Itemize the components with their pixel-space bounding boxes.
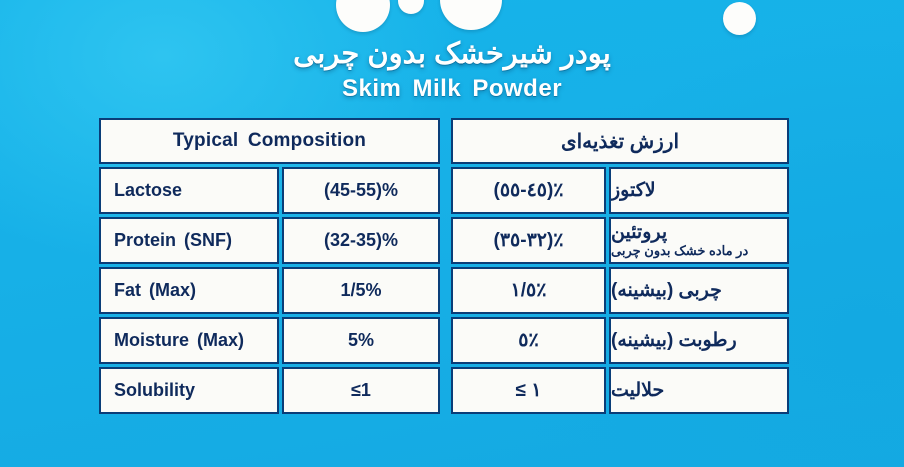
row-value-moisture-en: 5%: [282, 317, 440, 364]
row-label-lactose-en: Lactose: [99, 167, 279, 214]
table-row: Protein (SNF) (32-35)% ٪(٣٢-٣٥) پروتئین …: [99, 217, 789, 264]
row-label-protein-fa-main: پروتئین: [611, 223, 667, 243]
table-section-divider: [443, 367, 448, 414]
table-section-divider: [443, 267, 448, 314]
column-header-typical-composition: Typical Composition: [99, 118, 440, 164]
row-value-solubility-fa: ١ ≥: [451, 367, 606, 414]
milk-bubble-icon: [336, 0, 390, 32]
row-value-fat-en: 1/5%: [282, 267, 440, 314]
row-label-solubility-en: Solubility: [99, 367, 279, 414]
row-label-moisture-fa: رطوبت (بیشینه): [609, 317, 789, 364]
column-header-nutritional-value: ارزش تغذیه‌ای: [451, 118, 789, 164]
title-block: پودر شیرخشک بدون چربی Skim Milk Powder: [0, 34, 904, 104]
table-row: Solubility ≤1 ١ ≥ حلالیت: [99, 367, 789, 414]
nutrition-spec-table: Typical Composition ارزش تغذیه‌ای Lactos…: [99, 118, 789, 414]
milk-bubble-icon: [723, 2, 756, 35]
table-section-divider: [443, 167, 448, 214]
row-label-protein-en: Protein (SNF): [99, 217, 279, 264]
row-value-protein-en: (32-35)%: [282, 217, 440, 264]
milk-bubble-icon: [440, 0, 502, 30]
table-row: Lactose (45-55)% ٪(٤٥-٥٥) لاکتوز: [99, 167, 789, 214]
row-label-moisture-en: Moisture (Max): [99, 317, 279, 364]
row-label-lactose-fa: لاکتوز: [609, 167, 789, 214]
row-label-solubility-fa: حلالیت: [609, 367, 789, 414]
row-label-fat-fa: چربی (بیشینه): [609, 267, 789, 314]
row-label-fat-en: Fat (Max): [99, 267, 279, 314]
row-label-protein-fa-sub: در ماده خشک بدون چربی: [611, 244, 748, 258]
row-label-protein-fa: پروتئین در ماده خشک بدون چربی: [609, 217, 789, 264]
table-section-divider: [443, 317, 448, 364]
table-column-divider: [443, 118, 448, 164]
row-value-lactose-en: (45-55)%: [282, 167, 440, 214]
table-section-divider: [443, 217, 448, 264]
product-title-english: Skim Milk Powder: [0, 74, 904, 104]
product-title-persian: پودر شیرخشک بدون چربی: [0, 34, 904, 74]
table-header-row: Typical Composition ارزش تغذیه‌ای: [99, 118, 789, 164]
row-value-moisture-fa: ٪٥: [451, 317, 606, 364]
row-value-solubility-en: ≤1: [282, 367, 440, 414]
table-row: Fat (Max) 1/5% ٪١/٥ چربی (بیشینه): [99, 267, 789, 314]
milk-bubble-icon: [398, 0, 424, 14]
table-row: Moisture (Max) 5% ٪٥ رطوبت (بیشینه): [99, 317, 789, 364]
row-value-fat-fa: ٪١/٥: [451, 267, 606, 314]
row-value-lactose-fa: ٪(٤٥-٥٥): [451, 167, 606, 214]
product-label-panel: پودر شیرخشک بدون چربی Skim Milk Powder T…: [0, 0, 904, 467]
row-value-protein-fa: ٪(٣٢-٣٥): [451, 217, 606, 264]
